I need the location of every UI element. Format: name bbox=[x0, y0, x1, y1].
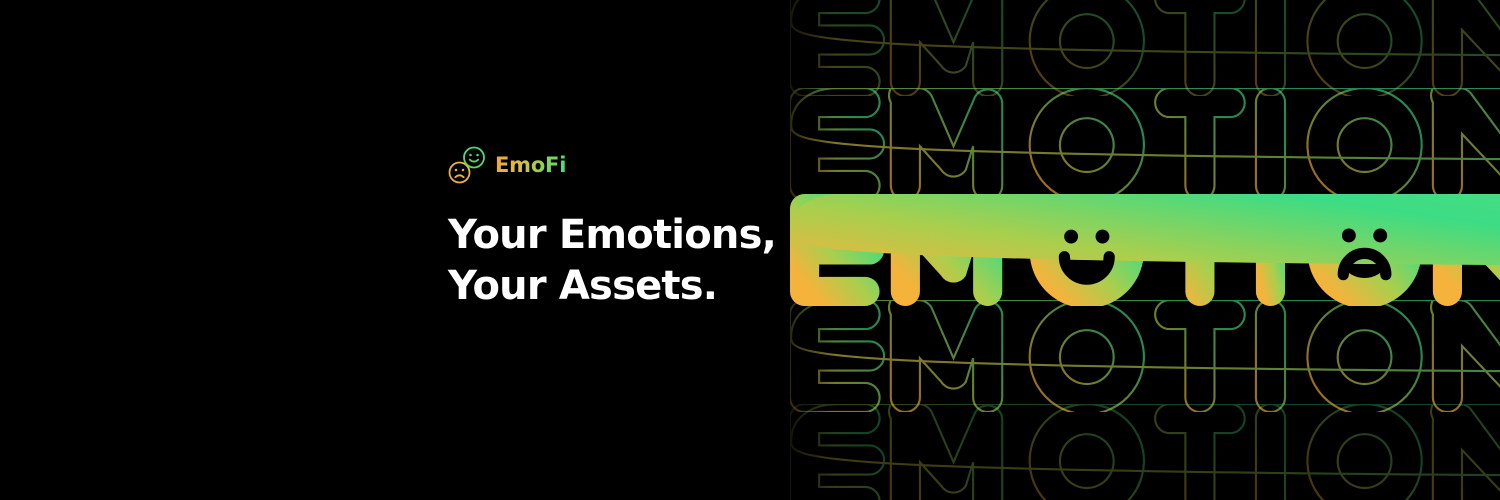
smiley-face-icon bbox=[464, 148, 484, 168]
background-wordmark-row bbox=[790, 88, 1500, 200]
background-wordmark-row bbox=[790, 0, 1500, 96]
hero-wordmark bbox=[790, 194, 1500, 306]
two-emoji-faces-icon bbox=[448, 145, 486, 185]
brand-lockup: EmoFi bbox=[448, 142, 788, 188]
background-wordmark-svg bbox=[790, 88, 1500, 200]
background-wordmark-row bbox=[790, 300, 1500, 412]
background-wordmark-row bbox=[790, 404, 1500, 500]
background-wordmark-svg bbox=[790, 0, 1500, 96]
headline-line-1: Your Emotions, bbox=[448, 210, 788, 261]
background-wordmark-svg bbox=[790, 300, 1500, 412]
headline-line-2: Your Assets. bbox=[448, 261, 788, 312]
brand-name: EmoFi bbox=[495, 155, 566, 176]
page-title: Your Emotions, Your Assets. bbox=[448, 210, 788, 312]
sad-face-icon bbox=[450, 163, 470, 183]
background-wordmark-svg bbox=[790, 404, 1500, 500]
left-content-block: EmoFi Your Emotions, Your Assets. bbox=[448, 142, 788, 312]
hero-wordmark-svg bbox=[790, 194, 1500, 306]
